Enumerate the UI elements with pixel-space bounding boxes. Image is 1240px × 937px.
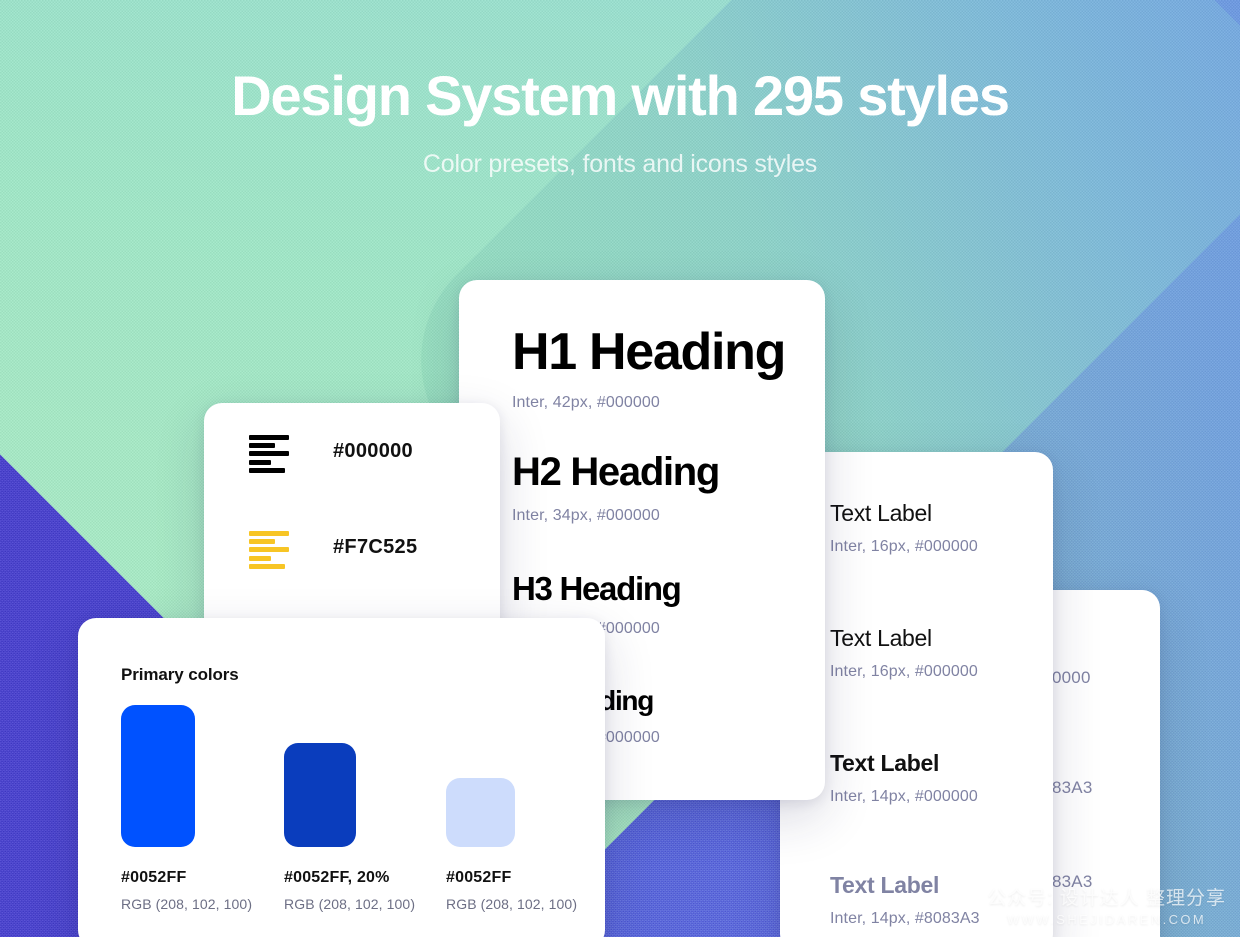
typography-row: H1 HeadingInter, 42px, #000000: [512, 322, 785, 412]
color-swatch-rgb-label: RGB (208, 102, 100): [284, 896, 415, 912]
primary-colors-title: Primary colors: [121, 665, 239, 685]
color-swatch-item[interactable]: #0052FF, 20%RGB (208, 102, 100): [284, 705, 415, 912]
page-title: Design System with 295 styles: [0, 68, 1240, 124]
typography-heading-sample: H1 Heading: [512, 322, 785, 382]
text-label-meta: Inter, 14px, #8083A3: [780, 910, 1053, 928]
icon-hex-label: #F7C525: [333, 536, 417, 559]
typography-meta: Inter, 42px, #000000: [512, 394, 785, 412]
icons-card: #000000#F7C525: [204, 403, 500, 638]
color-swatch-item[interactable]: #0052FFRGB (208, 102, 100): [121, 705, 252, 912]
text-label-meta-fragment: 83A3: [1052, 872, 1093, 892]
typography-row: H2 HeadingInter, 34px, #000000: [512, 450, 719, 525]
typography-heading-sample: H2 Heading: [512, 450, 719, 495]
text-label-meta-fragment: 0000: [1052, 668, 1091, 688]
color-swatch-hex-label: #0052FF: [121, 869, 252, 887]
text-label-meta-fragment: 83A3: [1052, 778, 1093, 798]
icon-hex-label: #000000: [333, 440, 413, 463]
align-left-icon: [249, 531, 291, 567]
color-swatch-hex-label: #0052FF, 20%: [284, 869, 415, 887]
color-swatch-rgb-label: RGB (208, 102, 100): [121, 896, 252, 912]
icon-row[interactable]: #000000: [204, 435, 500, 475]
text-label-row: Text LabelInter, 14px, #8083A3: [780, 872, 1053, 928]
typography-heading-sample: H3 Heading: [512, 570, 681, 608]
align-left-icon: [249, 435, 291, 471]
icon-row[interactable]: #F7C525: [204, 531, 500, 571]
color-swatch-item[interactable]: #0052FFRGB (208, 102, 100): [446, 705, 577, 912]
color-swatch[interactable]: [446, 778, 515, 847]
header: Design System with 295 styles Color pres…: [0, 0, 1240, 179]
primary-colors-card: Primary colors #0052FFRGB (208, 102, 100…: [78, 618, 605, 937]
color-swatch-rgb-label: RGB (208, 102, 100): [446, 896, 577, 912]
color-swatch[interactable]: [284, 743, 356, 847]
color-swatch[interactable]: [121, 705, 195, 847]
color-swatch-hex-label: #0052FF: [446, 869, 577, 887]
page-subtitle: Color presets, fonts and icons styles: [0, 150, 1240, 179]
text-label-sample: Text Label: [780, 872, 1053, 899]
typography-meta: Inter, 34px, #000000: [512, 507, 719, 525]
